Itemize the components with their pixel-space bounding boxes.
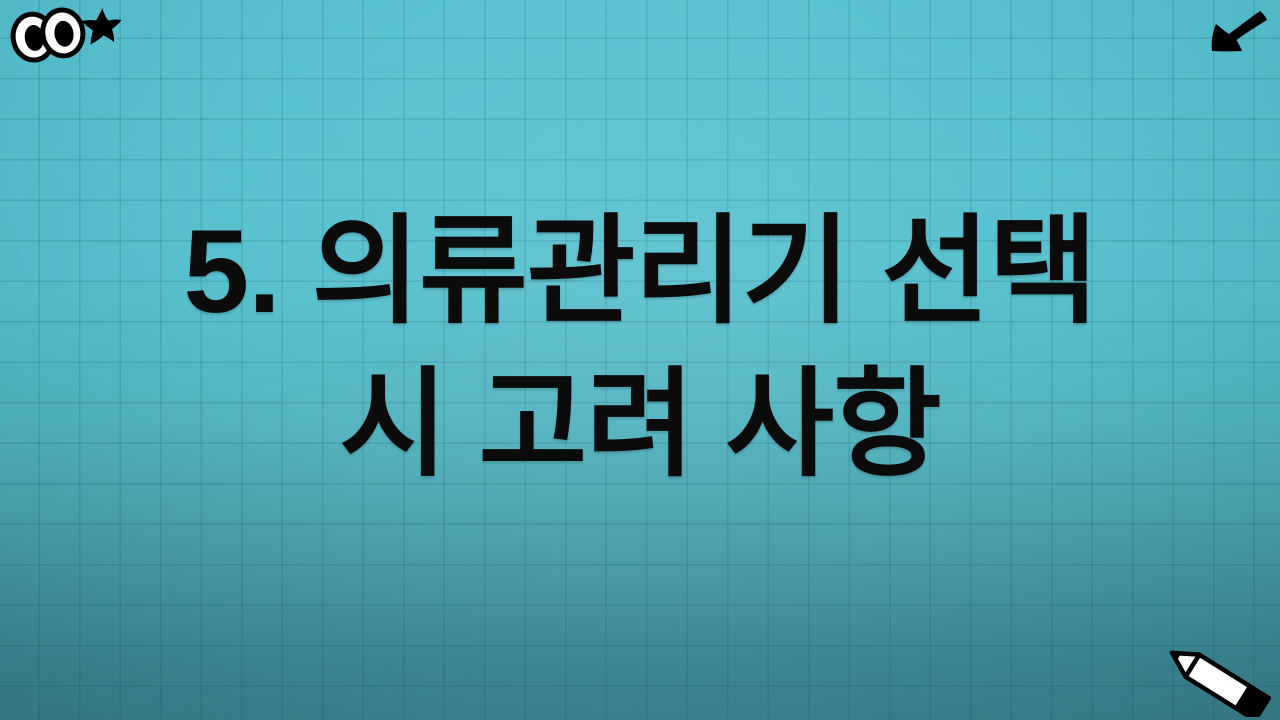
eyes-icon	[8, 4, 88, 66]
slide-title: 5. 의류관리기 선택 시 고려 사항	[0, 196, 1280, 503]
arrow-icon	[1204, 4, 1270, 56]
title-line-2: 시 고려 사항	[40, 349, 1240, 502]
pencil-icon	[1160, 645, 1275, 717]
star-icon	[80, 6, 124, 48]
slide-canvas: 5. 의류관리기 선택 시 고려 사항	[0, 0, 1280, 720]
title-line-1: 5. 의류관리기 선택	[40, 196, 1240, 349]
